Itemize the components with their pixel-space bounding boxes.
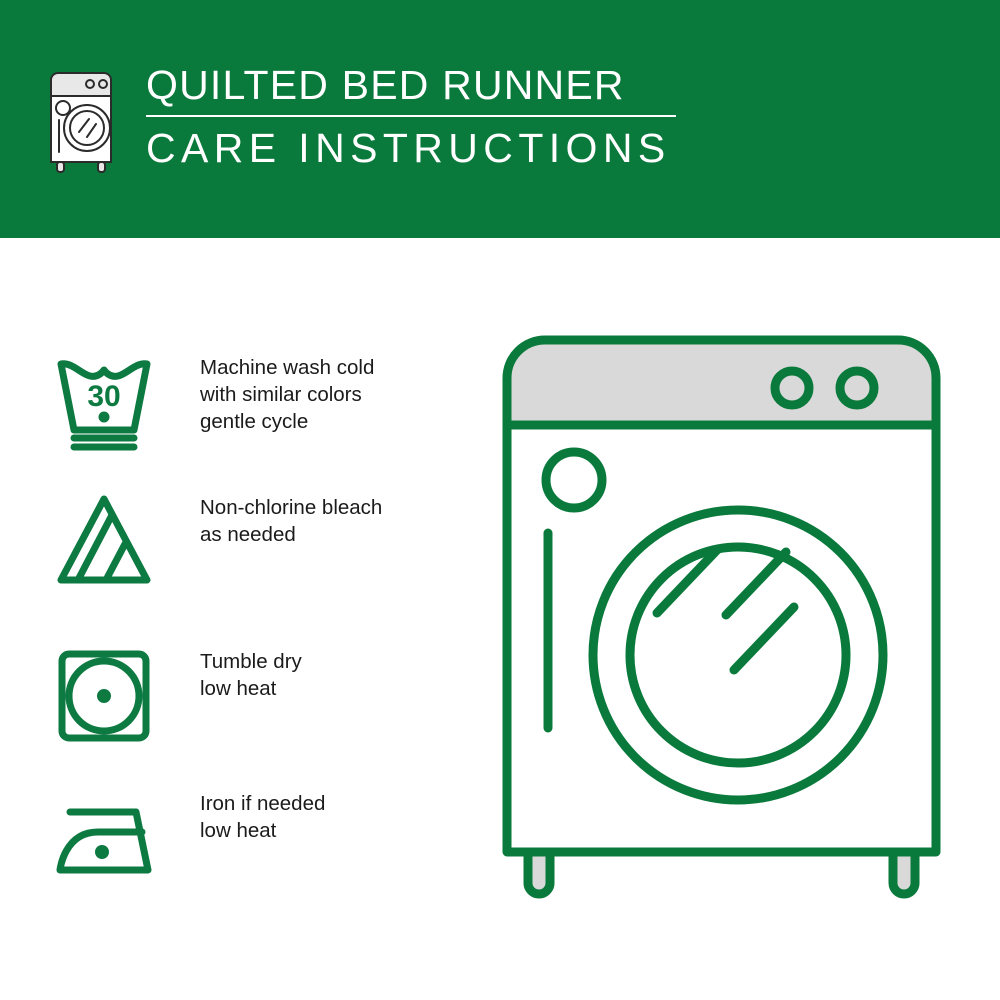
header-title-block: QUILTED BED RUNNER CARE INSTRUCTIONS — [146, 62, 676, 171]
care-label: Tumble dry low heat — [200, 644, 302, 702]
header-banner: QUILTED BED RUNNER CARE INSTRUCTIONS — [0, 0, 1000, 238]
header-content: QUILTED BED RUNNER CARE INSTRUCTIONS — [44, 62, 676, 174]
care-symbol-list: 30 Machine wash cold with similar colors… — [0, 238, 470, 1000]
washer-body — [507, 415, 936, 852]
care-row: Non-chlorine bleach as needed — [52, 490, 452, 594]
care-label: Iron if needed low heat — [200, 786, 325, 844]
tumble-dry-low-icon — [52, 644, 156, 748]
care-row: Tumble dry low heat — [52, 644, 452, 748]
care-row: Iron if needed low heat — [52, 786, 452, 890]
page-subtitle: CARE INSTRUCTIONS — [146, 125, 676, 171]
machine-wash-30-gentle-icon: 30 — [52, 350, 156, 454]
washer-leg-right — [893, 850, 915, 894]
front-load-washing-machine-illustration — [495, 330, 965, 930]
non-chlorine-bleach-icon — [52, 490, 156, 594]
page-title: QUILTED BED RUNNER — [146, 62, 676, 108]
care-row: 30 Machine wash cold with similar colors… — [52, 350, 452, 454]
washer-leg-left — [528, 850, 550, 894]
washing-machine-icon — [44, 66, 118, 174]
iron-low-heat-icon — [52, 786, 156, 890]
title-divider — [146, 115, 676, 117]
care-instructions-infographic: QUILTED BED RUNNER CARE INSTRUCTIONS — [0, 0, 1000, 1000]
care-label: Non-chlorine bleach as needed — [200, 490, 382, 548]
wash-temperature-value: 30 — [87, 380, 120, 413]
care-label: Machine wash cold with similar colors ge… — [200, 350, 374, 435]
